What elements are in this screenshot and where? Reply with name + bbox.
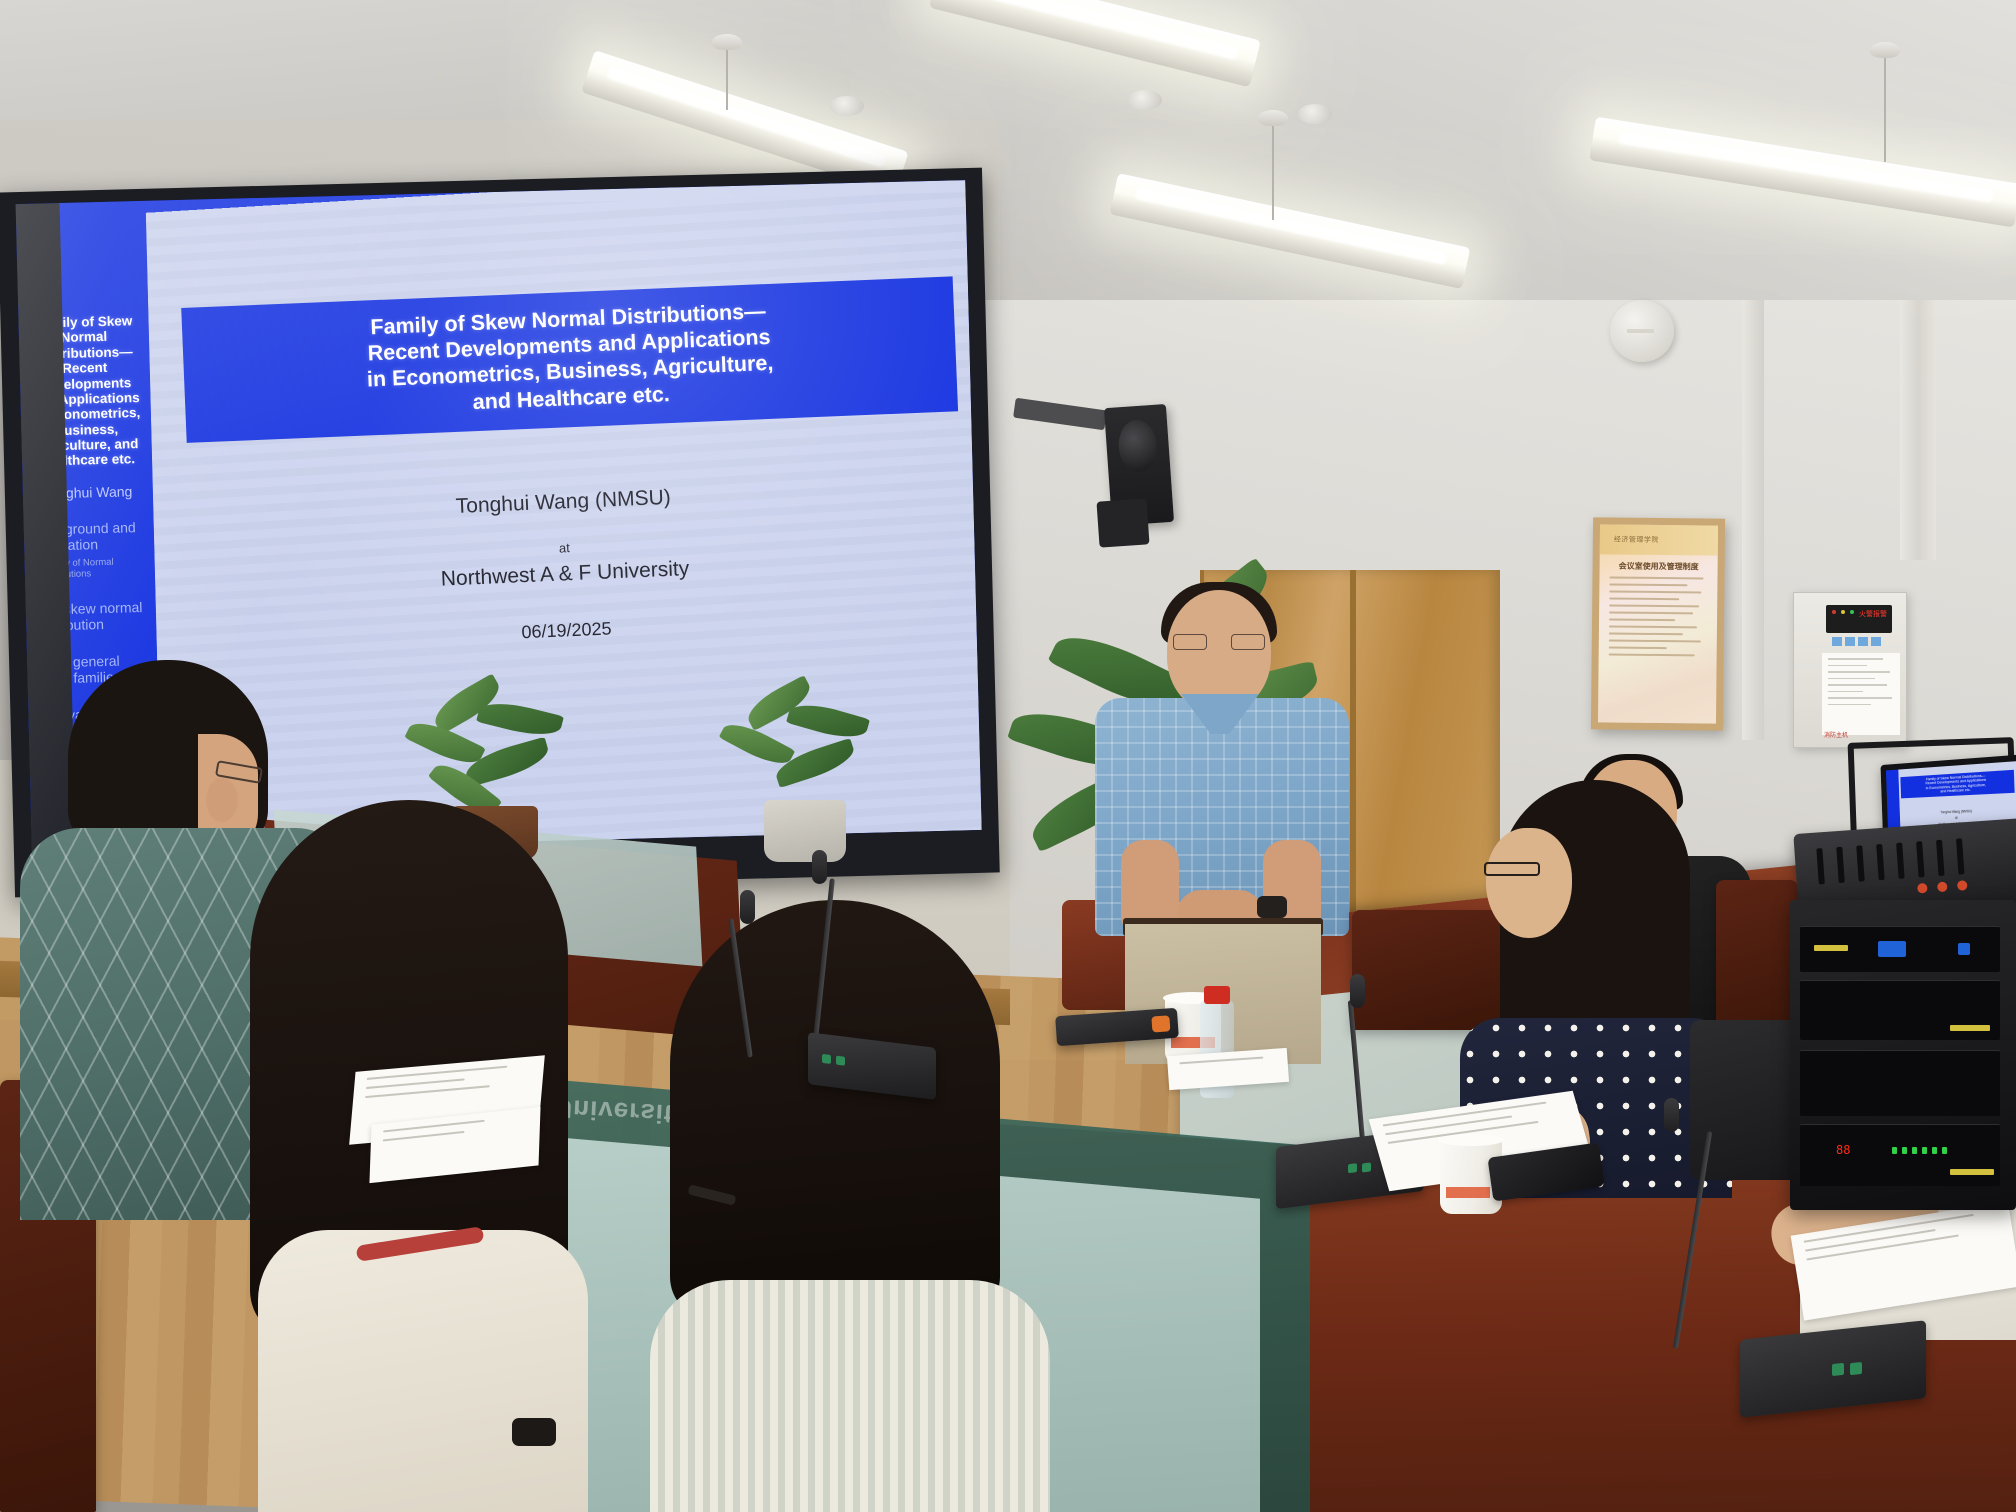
light-stem [1884,52,1886,162]
microphone-capsule [1664,1098,1679,1132]
bottle-cap [1204,986,1230,1004]
rack-label [1950,1025,1990,1031]
rack-label [1814,945,1848,951]
smoke-detector-icon [1298,104,1332,124]
rack-numeric-display: 88 [1836,1143,1850,1157]
ceiling-speaker [1096,498,1149,547]
fire-panel-instruction-sheet [1822,653,1900,735]
light-ceiling-cap [1258,110,1288,126]
poster-rule-lines [1609,576,1710,661]
wall-mounted-clock [1610,300,1674,362]
potted-plant [716,690,906,870]
attendee-hair [670,900,1000,1320]
rack-label [1950,1169,1994,1175]
rack-unit[interactable] [1800,926,2000,972]
av-equipment-rack[interactable]: 88 [1790,900,2016,1210]
laptop-slide-title: Family of Skew Normal Distributions— Rec… [1900,770,2014,799]
wristwatch [512,1418,556,1446]
striped-shirt [650,1280,1050,1512]
light-stem [726,44,728,110]
window-curtain [1900,300,1936,560]
rack-indicator [1958,943,1970,955]
rack-unit[interactable] [1800,980,2000,1040]
fire-panel-display: 火警报警 [1826,605,1892,633]
cup-rim [1438,1134,1504,1146]
smoke-detector-icon [1128,90,1162,110]
microphone-capsule [812,850,827,884]
light-stem [1272,120,1274,220]
eyeglasses-icon [1173,634,1265,650]
poster-content: 经济管理学院 会议室使用及管理制度 [1598,524,1718,723]
attendee-face [1486,828,1572,938]
rack-unit[interactable] [1800,1050,2000,1116]
microphone-capsule [740,890,755,924]
fire-alarm-panel[interactable]: 火警报警 消防主机 [1793,592,1907,748]
wall-pillar [1742,300,1764,740]
smoke-detector-icon [830,96,864,116]
poster-title-text: 会议室使用及管理制度 [1600,560,1718,572]
light-ceiling-cap [712,34,742,50]
fire-panel-keypad[interactable] [1832,637,1886,647]
microphone-capsule [1350,974,1365,1008]
eyeglasses-icon [1484,862,1540,876]
attendee-top [258,1230,588,1512]
wristwatch [1257,896,1287,918]
rack-unit[interactable]: 88 [1800,1124,2000,1186]
wall-poster: 经济管理学院 会议室使用及管理制度 [1591,517,1725,730]
conference-room-photo: Family of Skew Normal Distributions—Rece… [0,0,2016,1512]
fire-panel-readout: 火警报警 [1859,609,1887,619]
light-ceiling-cap [1870,42,1900,58]
rack-display [1878,941,1906,957]
fire-panel-brand-label: 消防主机 [1824,730,1848,739]
poster-header-text: 经济管理学院 [1600,524,1718,555]
attendee-ear [206,778,238,822]
presenter-head [1167,590,1271,712]
attendee-front-right-man [670,900,1010,1512]
